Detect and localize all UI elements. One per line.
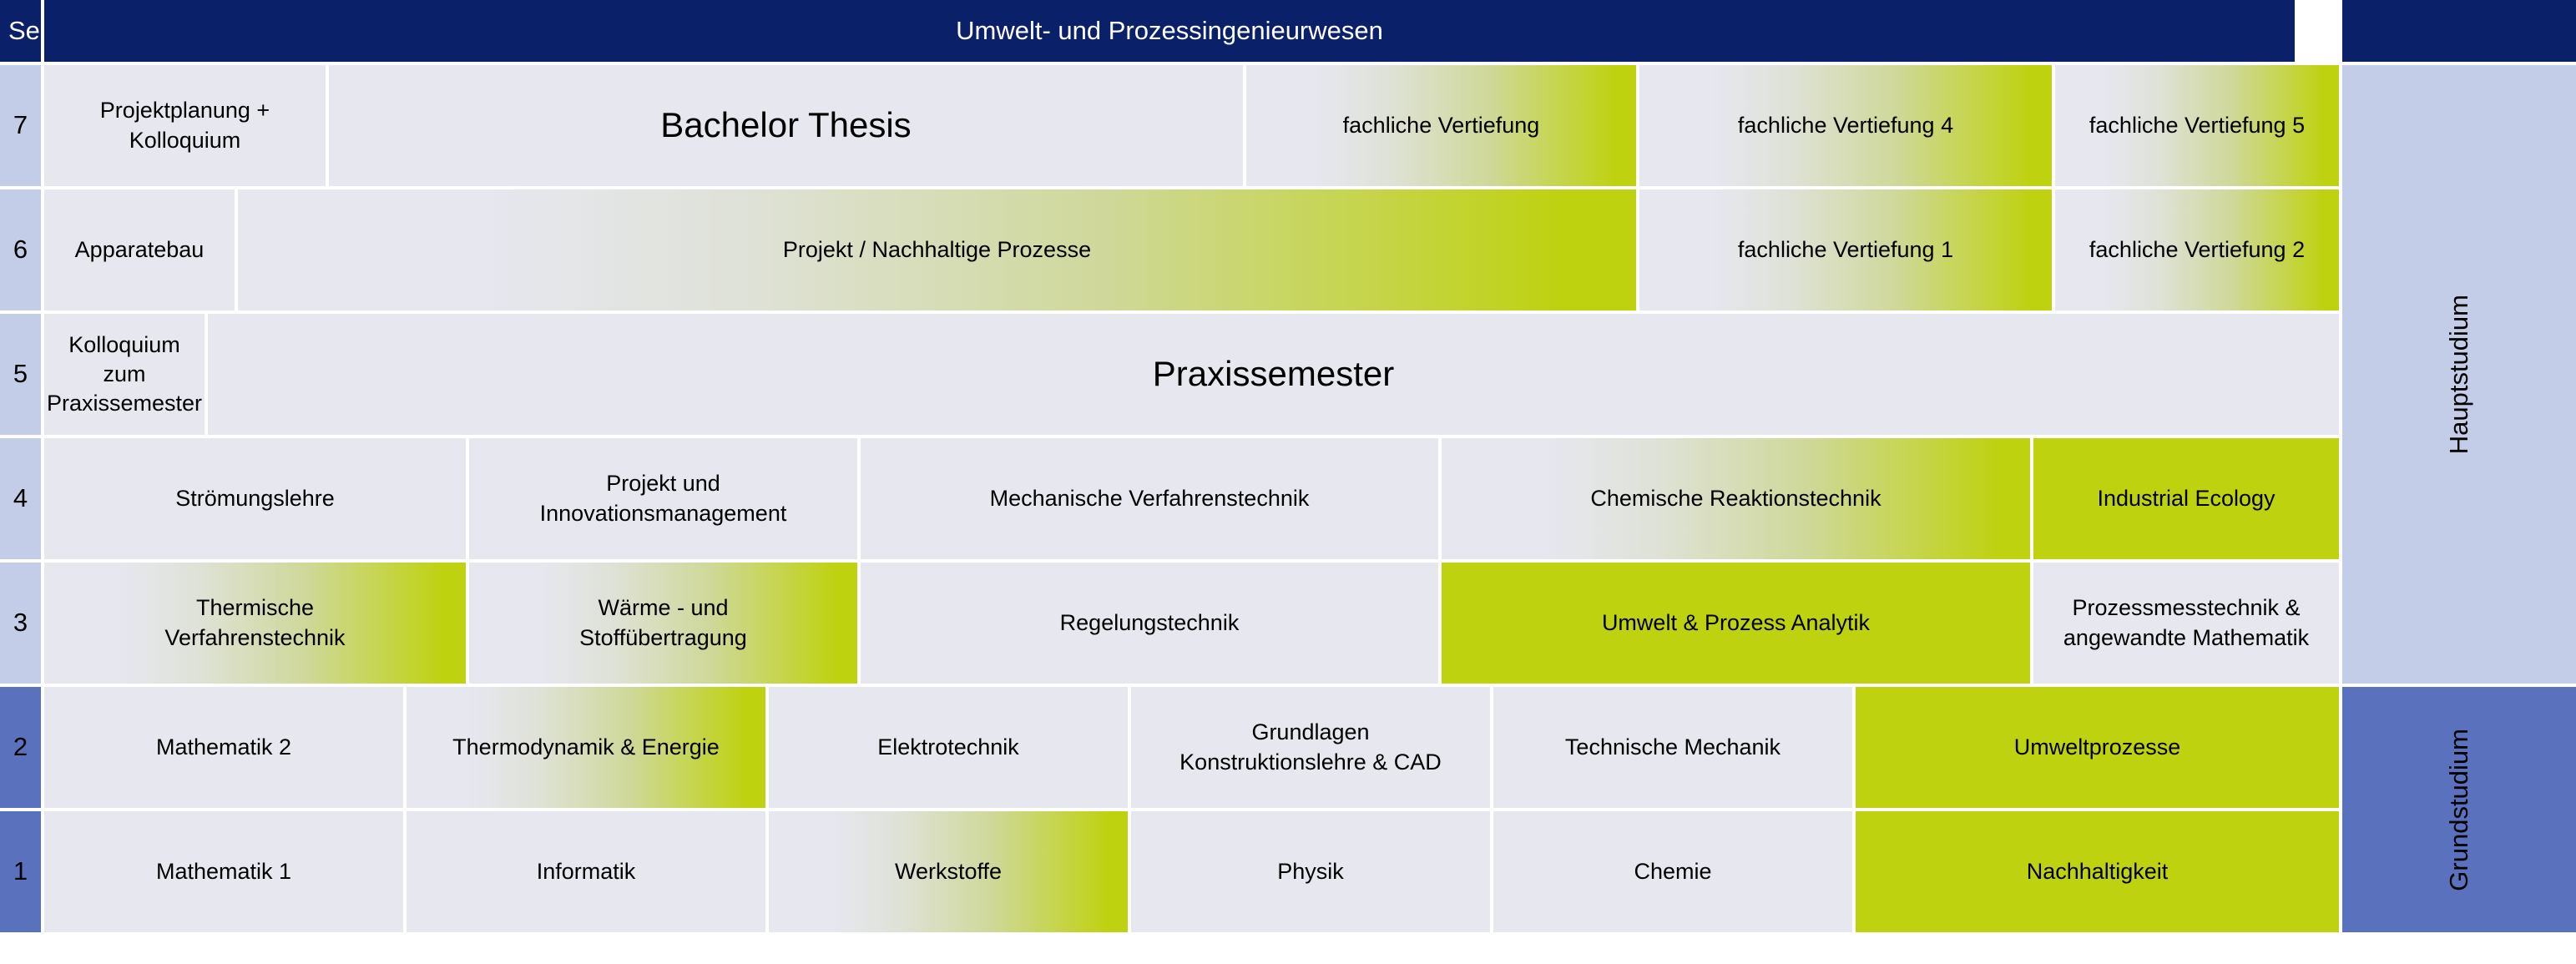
module-sem7-fachliche-vertiefung-4: fachliche Vertiefung 4 <box>1639 65 2052 186</box>
module-sem4-industrial-ecology: Industrial Ecology <box>2033 438 2339 559</box>
sem-number-2: 2 <box>0 687 41 808</box>
module-sem2-thermodynamik-energie: Thermodynamik & Energie <box>407 687 765 808</box>
module-sem4-chemische-reaktionstechnik: Chemische Reaktionstechnik <box>1442 438 2030 559</box>
module-sem3-prozessmesstechnik-angewandte-mathematik: Prozessmesstechnik & angewandte Mathemat… <box>2033 563 2339 684</box>
module-sem3-thermische-verfahrenstechnik: Thermische Verfahrenstechnik <box>44 563 466 684</box>
module-sem5-kolloquium-zum-praxissemester: Kolloquium zum Praxissemester <box>44 314 205 435</box>
sem-number-6: 6 <box>0 189 41 310</box>
phase-label-grundstudium-text: Grundstudium <box>2442 729 2476 891</box>
module-sem3-waerme-und-stoffuebertragung: Wärme - und Stoffübertragung <box>469 563 857 684</box>
module-sem6-fachliche-vertiefung-1: fachliche Vertiefung 1 <box>1639 189 2052 310</box>
phase-label-hauptstudium: Hauptstudium <box>2342 65 2576 684</box>
module-sem2-mathematik-2: Mathematik 2 <box>44 687 403 808</box>
module-sem1-chemie: Chemie <box>1493 811 1852 932</box>
sem-number-5: 5 <box>0 314 41 435</box>
phase-label-hauptstudium-text: Hauptstudium <box>2442 295 2476 454</box>
module-sem7-fachliche-vertiefung-5: fachliche Vertiefung 5 <box>2055 65 2339 186</box>
module-sem7-bachelor-thesis: Bachelor Thesis <box>329 65 1243 186</box>
module-sem1-werkstoffe: Werkstoffe <box>769 811 1128 932</box>
module-sem7-fachliche-vertiefung: fachliche Vertiefung <box>1246 65 1636 186</box>
module-sem2-elektrotechnik: Elektrotechnik <box>769 687 1128 808</box>
module-sem1-nachhaltigkeit: Nachhaltigkeit <box>1856 811 2339 932</box>
module-sem5-praxissemester: Praxissemester <box>208 314 2339 435</box>
module-sem2-technische-mechanik: Technische Mechanik <box>1493 687 1852 808</box>
sem-number-4: 4 <box>0 438 41 559</box>
module-sem4-projekt-und-innovationsmanagement: Projekt und Innovationsmanagement <box>469 438 857 559</box>
module-sem1-mathematik-1: Mathematik 1 <box>44 811 403 932</box>
program-title: Umwelt- und Prozessingenieurwesen <box>44 0 2295 62</box>
module-sem1-physik: Physik <box>1131 811 1490 932</box>
module-sem2-umweltprozesse: Umweltprozesse <box>1856 687 2339 808</box>
phase-label-grundstudium: Grundstudium <box>2342 687 2576 932</box>
module-sem3-umwelt-prozess-analytik: Umwelt & Prozess Analytik <box>1442 563 2030 684</box>
module-sem4-mechanische-verfahrenstechnik: Mechanische Verfahrenstechnik <box>861 438 1438 559</box>
header-right-spacer <box>2342 0 2576 62</box>
sem-number-1: 1 <box>0 811 41 932</box>
sem-number-3: 3 <box>0 563 41 684</box>
module-sem3-regelungstechnik: Regelungstechnik <box>861 563 1438 684</box>
module-sem1-informatik: Informatik <box>407 811 765 932</box>
sem-number-7: 7 <box>0 65 41 186</box>
module-sem4-stroemungslehre: Strömungslehre <box>44 438 466 559</box>
module-sem6-fachliche-vertiefung-2: fachliche Vertiefung 2 <box>2055 189 2339 310</box>
module-sem2-grundlagen-konstruktionslehre-cad: Grundlagen Konstruktionslehre & CAD <box>1131 687 1490 808</box>
module-sem6-projekt-nachhaltige-prozesse: Projekt / Nachhaltige Prozesse <box>238 189 1636 310</box>
curriculum-diagram: SemUmwelt- und Prozessingenieurwesen7654… <box>0 0 2576 964</box>
module-sem7-projektplanung-kolloquium: Projektplanung + Kolloquium <box>44 65 326 186</box>
header-sem-label: Sem <box>0 0 41 62</box>
module-sem6-apparatebau: Apparatebau <box>44 189 235 310</box>
